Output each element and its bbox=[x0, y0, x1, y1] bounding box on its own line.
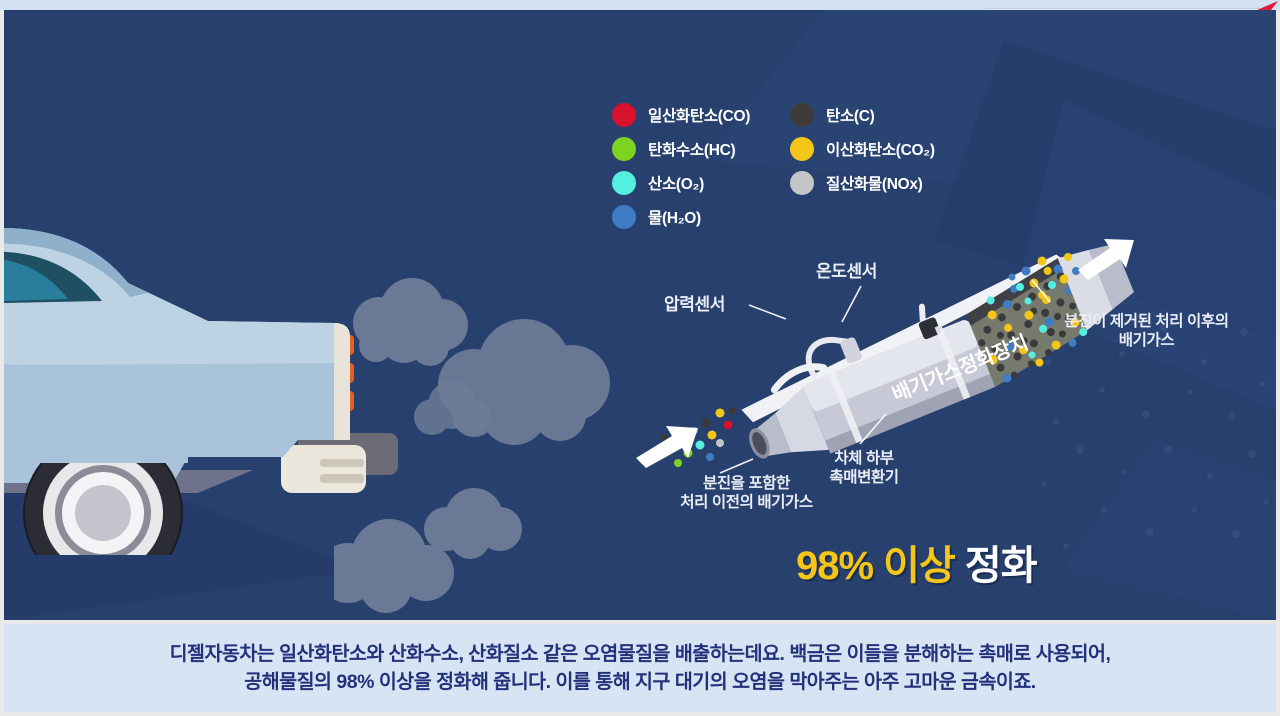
legend-dot-hydrocarbon bbox=[612, 137, 636, 161]
legend-label-carbon-monoxide: 일산화탄소(CO) bbox=[648, 104, 750, 126]
legend-item-oxygen: 산소(O₂) bbox=[612, 171, 790, 195]
leader-underbody bbox=[860, 414, 886, 444]
purification-headline: 98% 이상 정화 bbox=[796, 546, 1037, 586]
legend-dot-carbon bbox=[790, 103, 814, 127]
label-temperature-sensor: 온도센서 bbox=[816, 262, 877, 283]
legend-item-carbon-monoxide: 일산화탄소(CO) bbox=[612, 103, 790, 127]
label-underbody-converter: 차체 하부 촉매변환기 bbox=[809, 450, 919, 488]
legend-item-carbon-dioxide: 이산화탄소(CO₂) bbox=[790, 137, 935, 161]
legend-item-carbon: 탄소(C) bbox=[790, 103, 875, 127]
legend-label-hydrocarbon: 탄화수소(HC) bbox=[648, 138, 735, 160]
headline-rest: 정화 bbox=[955, 544, 1037, 588]
legend-item-water: 물(H₂O) bbox=[612, 205, 790, 229]
leader-after bbox=[1032, 280, 1050, 302]
main-illustration-panel: 압력센서 온도센서 분진이 제거된 처리 이후의 배기가스 분진을 포함한 처리… bbox=[4, 10, 1276, 620]
label-gas-after: 분진이 제거된 처리 이후의 배기가스 bbox=[1039, 313, 1254, 351]
legend-dot-nitrogen-oxide bbox=[790, 171, 814, 195]
legend-item-nitrogen-oxide: 질산화물(NOx) bbox=[790, 171, 923, 195]
legend-label-water: 물(H₂O) bbox=[648, 206, 701, 228]
caption-line-1: 디젤자동차는 일산화탄소와 산화수소, 산화질소 같은 오염물질을 배출하는데요… bbox=[170, 640, 1111, 668]
legend-label-carbon: 탄소(C) bbox=[826, 104, 875, 126]
leader-pressure bbox=[749, 305, 786, 319]
legend-row: 산소(O₂) 질산화물(NOx) bbox=[612, 166, 952, 200]
label-pressure-sensor: 압력센서 bbox=[664, 295, 725, 316]
gas-legend: 일산화탄소(CO) 탄소(C) 탄화수소(HC) 이산화탄소(CO₂) bbox=[612, 98, 952, 234]
caption-line-2: 공해물질의 98% 이상을 정화해 줍니다. 이를 통해 지구 대기의 오염을 … bbox=[244, 668, 1035, 696]
legend-label-oxygen: 산소(O₂) bbox=[648, 172, 704, 194]
legend-label-nitrogen-oxide: 질산화물(NOx) bbox=[826, 172, 923, 194]
legend-row: 일산화탄소(CO) 탄소(C) bbox=[612, 98, 952, 132]
legend-item-hydrocarbon: 탄화수소(HC) bbox=[612, 137, 790, 161]
legend-dot-water bbox=[612, 205, 636, 229]
label-gas-before: 분진을 포함한 처리 이전의 배기가스 bbox=[664, 475, 829, 513]
legend-dot-carbon-dioxide bbox=[790, 137, 814, 161]
legend-dot-carbon-monoxide bbox=[612, 103, 636, 127]
infographic-canvas: LS - Nikko 동제련 bbox=[0, 0, 1280, 716]
legend-row: 물(H₂O) bbox=[612, 200, 952, 234]
legend-label-carbon-dioxide: 이산화탄소(CO₂) bbox=[826, 138, 935, 160]
headline-highlight: 98% 이상 bbox=[796, 544, 955, 588]
caption-panel: 디젤자동차는 일산화탄소와 산화수소, 산화질소 같은 오염물질을 배출하는데요… bbox=[4, 624, 1276, 712]
legend-row: 탄화수소(HC) 이산화탄소(CO₂) bbox=[612, 132, 952, 166]
leader-temperature bbox=[842, 286, 861, 322]
legend-dot-oxygen bbox=[612, 171, 636, 195]
leader-before bbox=[720, 459, 753, 473]
